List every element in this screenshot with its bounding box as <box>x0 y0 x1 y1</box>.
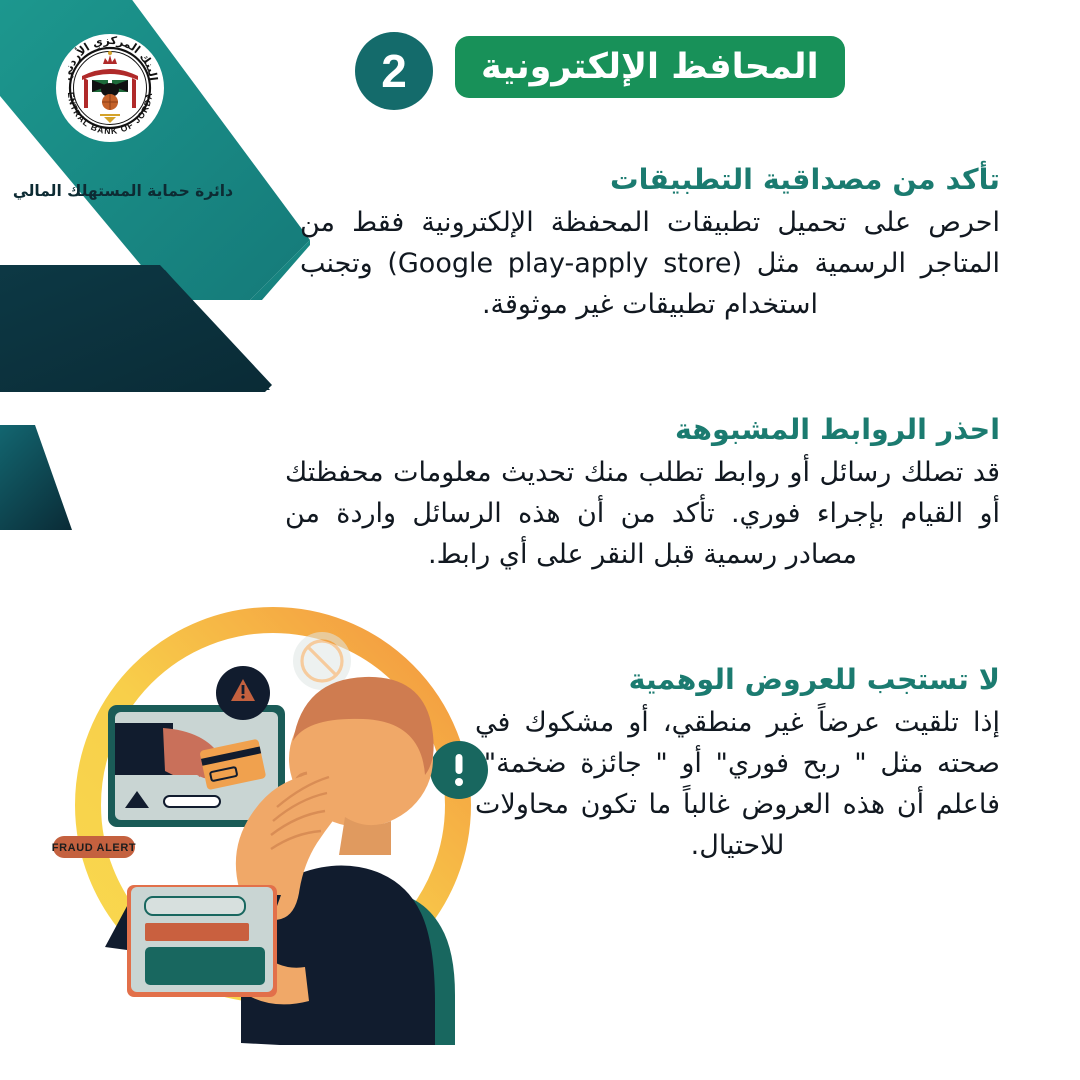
step-number-text: 2 <box>381 48 407 94</box>
step-number-badge: 2 <box>355 32 433 110</box>
fraud-alert-badge: FRAUD ALERT <box>52 836 136 858</box>
infographic-canvas: CENTRAL BANK OF JORDAN البنك المركزي الأ… <box>0 0 1080 1080</box>
tip-3-heading: لا تستجب للعروض الوهمية <box>475 662 1000 698</box>
tip-section-1: تأكد من مصداقية التطبيقات احرص على تحميل… <box>300 162 1000 325</box>
tip-1-heading: تأكد من مصداقية التطبيقات <box>300 162 1000 198</box>
tablet-device <box>105 885 281 997</box>
fraud-alert-text: FRAUD ALERT <box>52 842 136 854</box>
exclamation-badge-icon <box>430 741 488 799</box>
tip-3-body: إذا تلقيت عرضاً غير منطقي، أو مشكوك في ص… <box>475 702 1000 866</box>
tip-2-body: قد تصلك رسائل أو روابط تطلب منك تحديث مع… <box>285 452 1000 575</box>
department-label: دائرة حماية المستهلك المالي <box>8 182 238 201</box>
tip-section-3: لا تستجب للعروض الوهمية إذا تلقيت عرضاً … <box>475 662 1000 866</box>
fraud-alert-illustration: FRAUD ALERT <box>45 595 505 1045</box>
tip-2-heading: احذر الروابط المشبوهة <box>285 412 1000 448</box>
central-bank-of-jordan-logo: CENTRAL BANK OF JORDAN البنك المركزي الأ… <box>38 30 218 150</box>
alert-badge-icon <box>216 666 270 720</box>
tip-section-2: احذر الروابط المشبوهة قد تصلك رسائل أو ر… <box>285 412 1000 575</box>
page-title: المحافظ الإلكترونية <box>481 50 819 85</box>
tip-1-body: احرص على تحميل تطبيقات المحفظة الإلكترون… <box>300 202 1000 325</box>
page-title-pill: المحافظ الإلكترونية <box>455 36 845 98</box>
